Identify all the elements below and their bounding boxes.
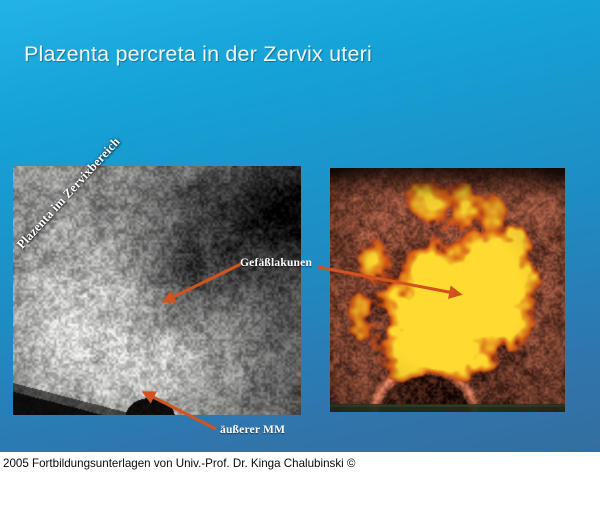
page-title: Plazenta percreta in der Zervix uteri — [24, 42, 372, 67]
copyright-text: 2005 Fortbildungsunterlagen von Univ.-Pr… — [3, 457, 355, 470]
color-doppler-ultrasound-image — [330, 168, 565, 412]
footer-bar: 2005 Fortbildungsunterlagen von Univ.-Pr… — [0, 452, 600, 512]
annotation-label-aeusserer-mm: äußerer MM — [220, 424, 285, 436]
presentation-slide: Plazenta percreta in der Zervix uteri Ge… — [0, 0, 600, 452]
annotation-label-gefaesslakunen: Gefäßlakunen — [240, 257, 312, 269]
figure-color-doppler-ultrasound — [330, 168, 565, 412]
